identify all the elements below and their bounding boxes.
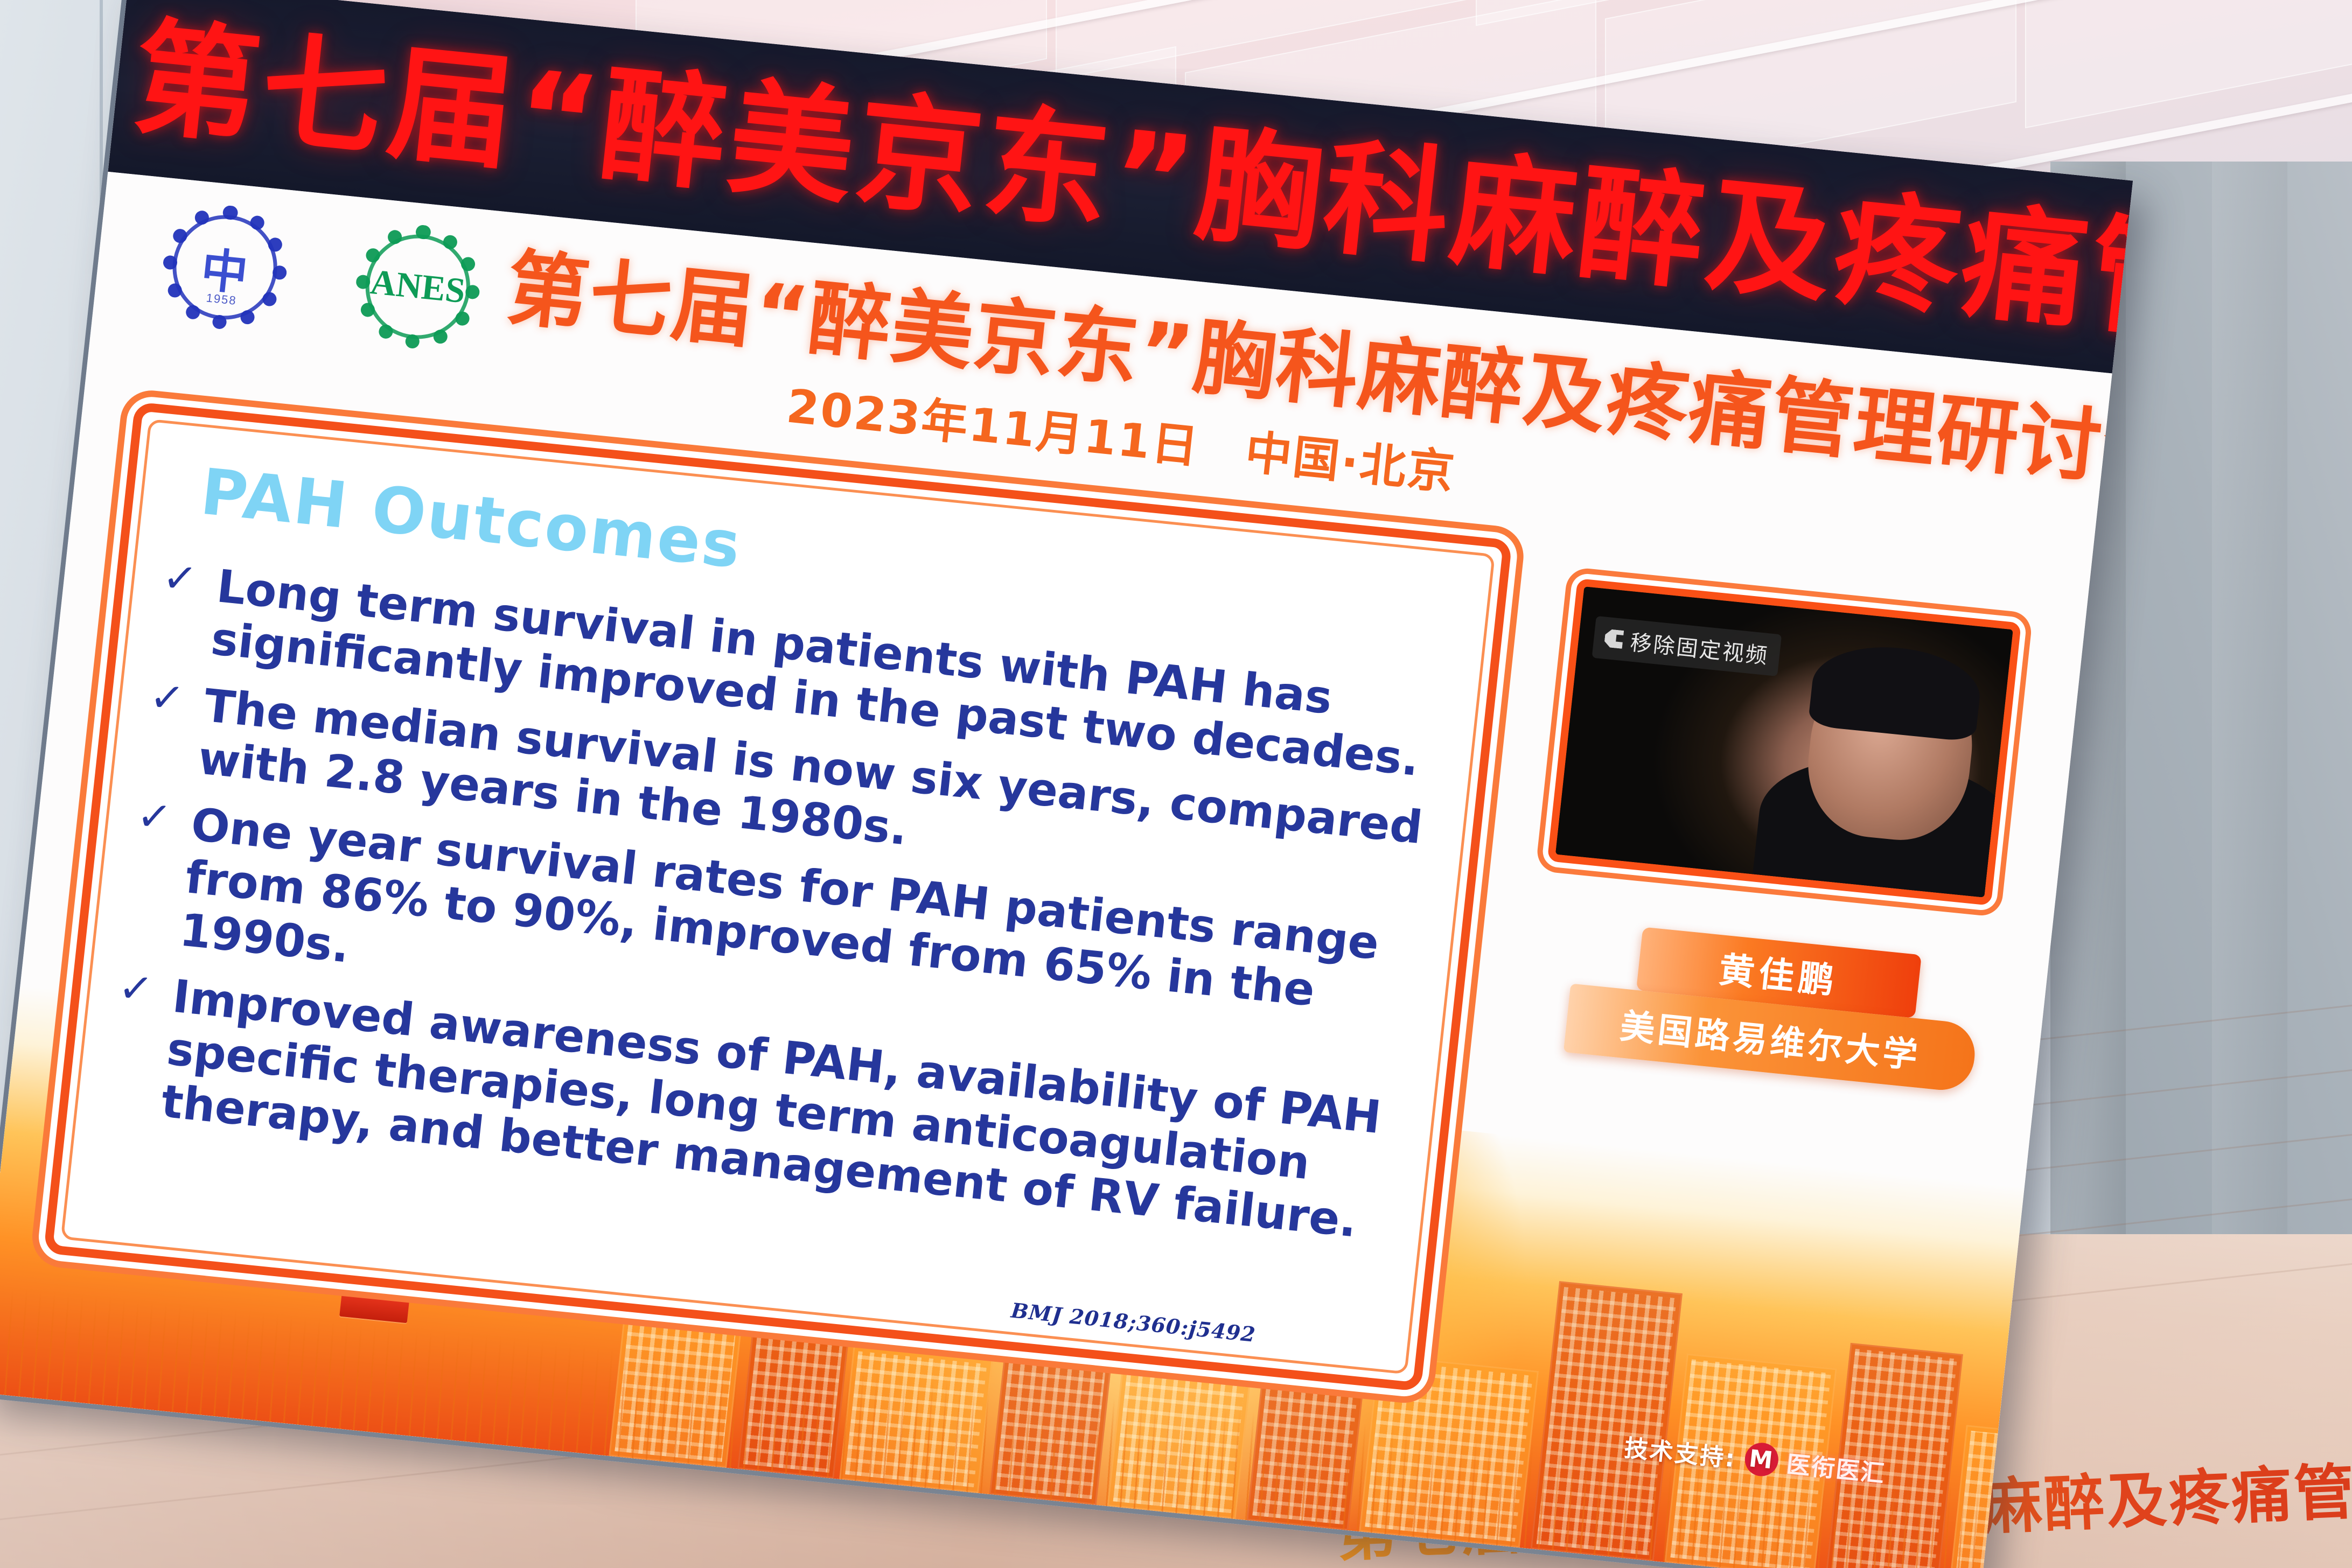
logo-group: 中 1958 ANES (157, 200, 486, 355)
led-screen: 第七届“醉美京东”胸科麻醉及疼痛管理研讨会 中 1958 (0, 0, 2128, 1568)
check-icon: ✓ (148, 673, 190, 722)
video-tooltip-label: 移除固定视频 (1629, 625, 1770, 670)
slide-citation: BMJ 2018;360:j5492 (1010, 1298, 1257, 1347)
video-panel[interactable]: 移除固定视频 (1547, 578, 2021, 906)
host-institution-logo: 中 1958 (157, 200, 293, 335)
society-logo: ANES (350, 219, 486, 355)
check-icon: ✓ (116, 964, 159, 1013)
check-icon: ✓ (135, 793, 177, 841)
screenshot-root: 第七届“醉美京东”胸科麻醉及疼痛管理研讨会 第七届“醉美京东”胸科麻醉及疼痛管理… (0, 0, 2352, 1568)
board-location: 中国·北京 (1243, 425, 1458, 500)
check-icon: ✓ (160, 554, 203, 603)
slide-bullet-list: ✓ Long term survival in patients with PA… (104, 554, 1450, 1251)
speaker-hair (1807, 640, 1984, 742)
conference-board: 中 1958 ANES 第七届“醉美京东”胸科麻醉及疼痛管理研讨会 2023年1… (0, 172, 2112, 1568)
tech-support-logo-icon: M (1743, 1441, 1780, 1478)
logo-mark: 中 (198, 232, 252, 303)
pin-icon (1604, 629, 1624, 649)
slide-card: PAH Outcomes ✓ Long term survival in pat… (44, 402, 1512, 1391)
wall-column (2212, 162, 2287, 1416)
